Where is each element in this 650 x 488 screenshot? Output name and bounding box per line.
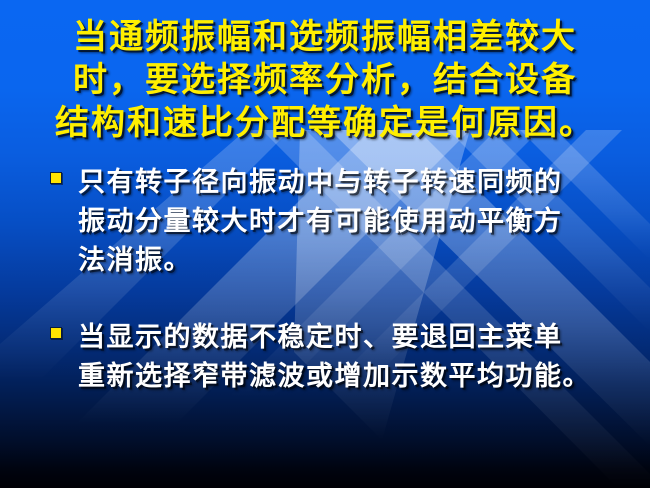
bullet-square-icon [50,172,62,184]
bullet-2-line-1: 当显示的数据不稳定时、要退回主菜单 [78,318,630,357]
title-line-2: 时，要选择频率分析，结合设备 [0,59,650,102]
slide-title: 当通频振幅和选频振幅相差较大 时，要选择频率分析，结合设备 结构和速比分配等确定… [0,16,650,145]
title-line-1: 当通频振幅和选频振幅相差较大 [0,16,650,59]
bullet-2-text: 当显示的数据不稳定时、要退回主菜单 重新选择窄带滤波或增加示数平均功能。 [78,318,630,396]
bullet-square-icon [50,327,62,339]
presentation-slide: 当通频振幅和选频振幅相差较大 时，要选择频率分析，结合设备 结构和速比分配等确定… [0,0,650,488]
bullet-2-line-2: 重新选择窄带滤波或增加示数平均功能。 [78,357,630,396]
slide-content: 当通频振幅和选频振幅相差较大 时，要选择频率分析，结合设备 结构和速比分配等确定… [0,0,650,488]
bullet-1-line-3: 法消振。 [78,241,630,280]
bullet-item-2: 当显示的数据不稳定时、要退回主菜单 重新选择窄带滤波或增加示数平均功能。 [46,318,630,396]
bullet-1-line-1: 只有转子径向振动中与转子转速同频的 [78,163,630,202]
bullet-item-1: 只有转子径向振动中与转子转速同频的 振动分量较大时才有可能使用动平衡方 法消振。 [46,163,630,280]
bullet-row: 只有转子径向振动中与转子转速同频的 振动分量较大时才有可能使用动平衡方 法消振。 [46,163,630,280]
bullet-1-line-2: 振动分量较大时才有可能使用动平衡方 [78,202,630,241]
title-line-3: 结构和速比分配等确定是何原因。 [0,102,650,145]
bullet-1-text: 只有转子径向振动中与转子转速同频的 振动分量较大时才有可能使用动平衡方 法消振。 [78,163,630,280]
bullet-row: 当显示的数据不稳定时、要退回主菜单 重新选择窄带滤波或增加示数平均功能。 [46,318,630,396]
